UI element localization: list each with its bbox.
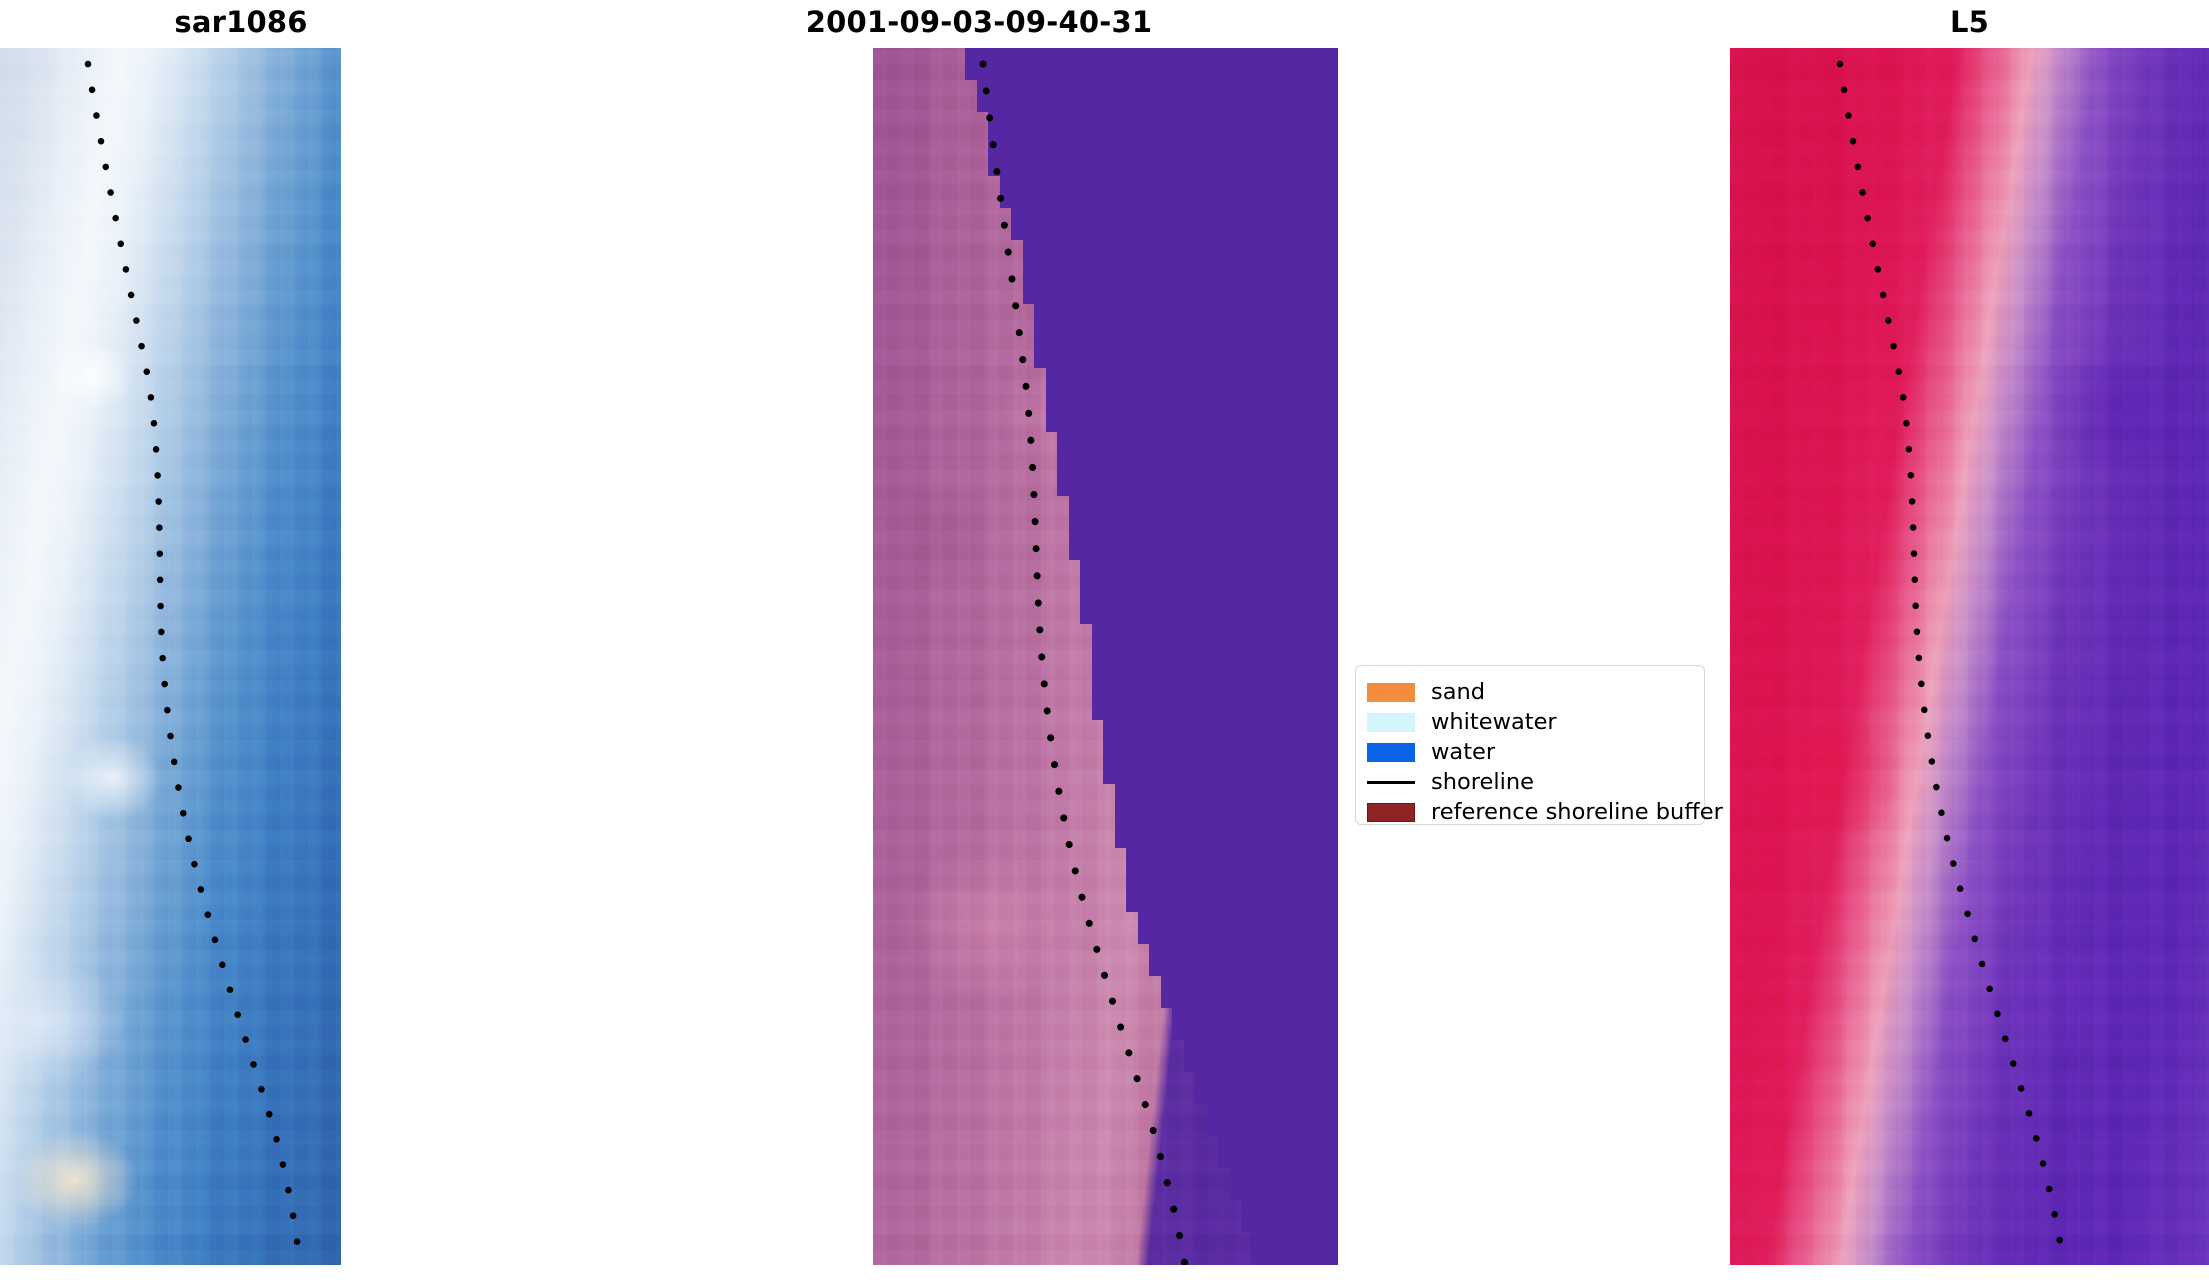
legend-label-shoreline: shoreline — [1431, 767, 1534, 797]
panel-sar1086: sar1086 — [0, 0, 482, 1283]
legend: sand whitewater water shoreline referenc… — [1355, 665, 1705, 825]
legend-swatch-sand — [1367, 683, 1415, 702]
class-boundary-and-shoreline — [873, 48, 1338, 1265]
legend-swatch-shoreline — [1367, 773, 1415, 792]
legend-swatch-reference-shoreline-buffer — [1367, 803, 1415, 822]
legend-item: shoreline — [1367, 767, 1691, 797]
raster-pixel-texture-coarse — [0, 48, 341, 1265]
legend-label-water: water — [1431, 737, 1495, 767]
classified-image — [873, 48, 1338, 1265]
legend-item: reference shoreline buffer — [1367, 797, 1691, 827]
shoreline-overlay-l5 — [1730, 48, 2209, 1265]
legend-label-sand: sand — [1431, 677, 1485, 707]
shoreline-overlay-sar — [0, 48, 341, 1265]
legend-label-reference-shoreline-buffer: reference shoreline buffer — [1431, 797, 1723, 827]
panel-title-l5: L5 — [1730, 0, 2209, 44]
raster-pixel-texture — [1730, 48, 2209, 1265]
panel-l5: L5 — [1730, 0, 2209, 1283]
landsat5-rgb-image — [1730, 48, 2209, 1265]
raster-pixel-texture — [873, 48, 1338, 1265]
sar-backscatter-image — [0, 48, 341, 1265]
legend-swatch-water — [1367, 743, 1415, 762]
legend-label-whitewater: whitewater — [1431, 707, 1557, 737]
legend-item: water — [1367, 737, 1691, 767]
legend-item: whitewater — [1367, 707, 1691, 737]
panel-title-sar1086: sar1086 — [0, 0, 482, 44]
legend-swatch-whitewater — [1367, 713, 1415, 732]
panel-title-classified: 2001-09-03-09-40-31 — [620, 0, 1338, 44]
raster-pixel-texture-coarse — [1730, 48, 2209, 1265]
panel-classified: 2001-09-03-09-40-31 — [620, 0, 1338, 1283]
legend-item: sand — [1367, 677, 1691, 707]
raster-pixel-texture — [0, 48, 341, 1265]
raster-pixel-texture-coarse — [873, 48, 1338, 1265]
